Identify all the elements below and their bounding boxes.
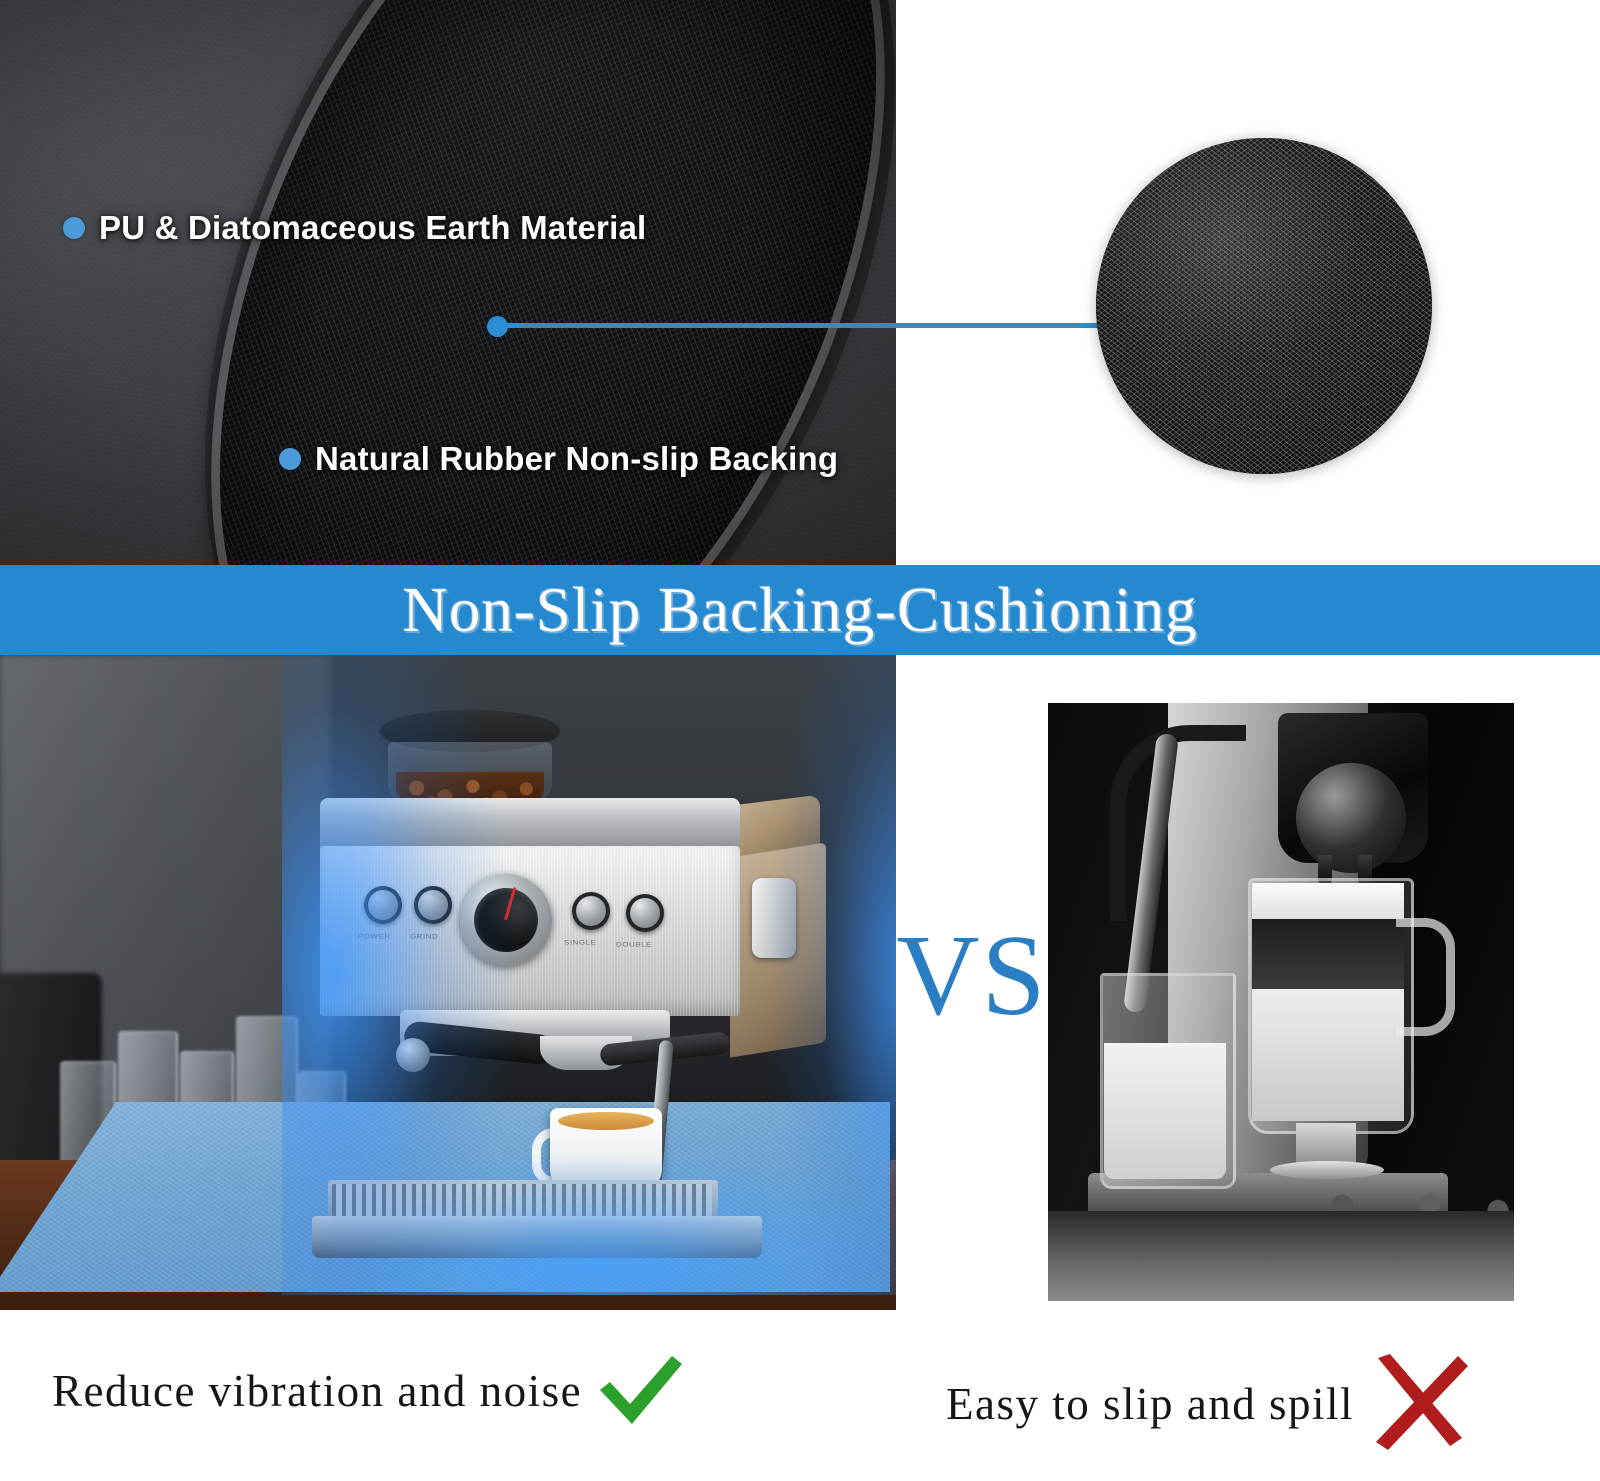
bullet-dot-icon — [63, 217, 85, 239]
espresso-crema — [558, 1112, 654, 1130]
bw-latte-handle — [1396, 918, 1455, 1036]
caption-bad: Easy to slip and spill — [946, 1352, 1470, 1456]
curled-mat-photo — [0, 0, 896, 565]
drip-tray-grill — [332, 1184, 712, 1216]
grind-button-label: GRIND — [410, 933, 438, 941]
espresso-machine-no-mat-photo — [1048, 703, 1514, 1301]
bw-dispenser-head — [1296, 763, 1406, 873]
bullet-dot-icon — [279, 448, 301, 470]
power-button-icon — [364, 886, 402, 924]
versus-divider: VS — [896, 655, 1048, 1310]
espresso-machine-on-mat-photo: POWER GRIND SINGLE DOUBLE — [0, 655, 896, 1310]
versus-label: VS — [896, 918, 1047, 1033]
feature-banner: Non-Slip Backing-Cushioning — [0, 565, 1600, 655]
caption-row: Reduce vibration and noise Easy to slip … — [0, 1310, 1600, 1481]
single-shot-label: SINGLE — [564, 939, 596, 947]
callout-backing-label: Natural Rubber Non-slip Backing — [315, 440, 838, 478]
wand-tip — [396, 1038, 430, 1072]
rubber-weave-closeup — [1096, 138, 1432, 474]
caption-bad-label: Easy to slip and spill — [946, 1378, 1354, 1430]
caption-good: Reduce vibration and noise — [52, 1352, 686, 1430]
machine-base — [312, 1216, 762, 1258]
bw-counter-surface — [1048, 1211, 1514, 1301]
machine-top — [320, 798, 740, 850]
callout-material-label: PU & Diatomaceous Earth Material — [99, 209, 646, 247]
double-shot-button-icon — [626, 894, 664, 932]
bw-latte-coffee-layer — [1252, 919, 1404, 989]
green-check-icon — [594, 1352, 686, 1430]
double-shot-label: DOUBLE — [616, 941, 652, 949]
callout-backing: Natural Rubber Non-slip Backing — [279, 440, 838, 478]
power-button-label: POWER — [358, 933, 391, 941]
bw-latte-foam-layer — [1252, 883, 1404, 919]
espresso-machine: POWER GRIND SINGLE DOUBLE — [300, 710, 840, 1270]
bw-wand-arc — [1110, 725, 1246, 921]
caption-good-label: Reduce vibration and noise — [52, 1365, 582, 1417]
red-cross-icon — [1366, 1352, 1470, 1456]
bw-milk-fill — [1104, 1043, 1226, 1179]
top-feature-panel: PU & Diatomaceous Earth Material Natural… — [0, 0, 1600, 565]
closeup-highlight — [1096, 138, 1432, 474]
bw-latte-milk-layer — [1252, 989, 1404, 1121]
single-shot-button-icon — [572, 892, 610, 930]
callout-material: PU & Diatomaceous Earth Material — [63, 209, 646, 247]
product-infographic: PU & Diatomaceous Earth Material Natural… — [0, 0, 1600, 1481]
grind-button-icon — [414, 886, 452, 924]
steam-knob — [752, 878, 796, 958]
banner-title: Non-Slip Backing-Cushioning — [402, 579, 1197, 642]
photo-vignette — [0, 0, 896, 565]
connector-line — [503, 323, 1113, 328]
